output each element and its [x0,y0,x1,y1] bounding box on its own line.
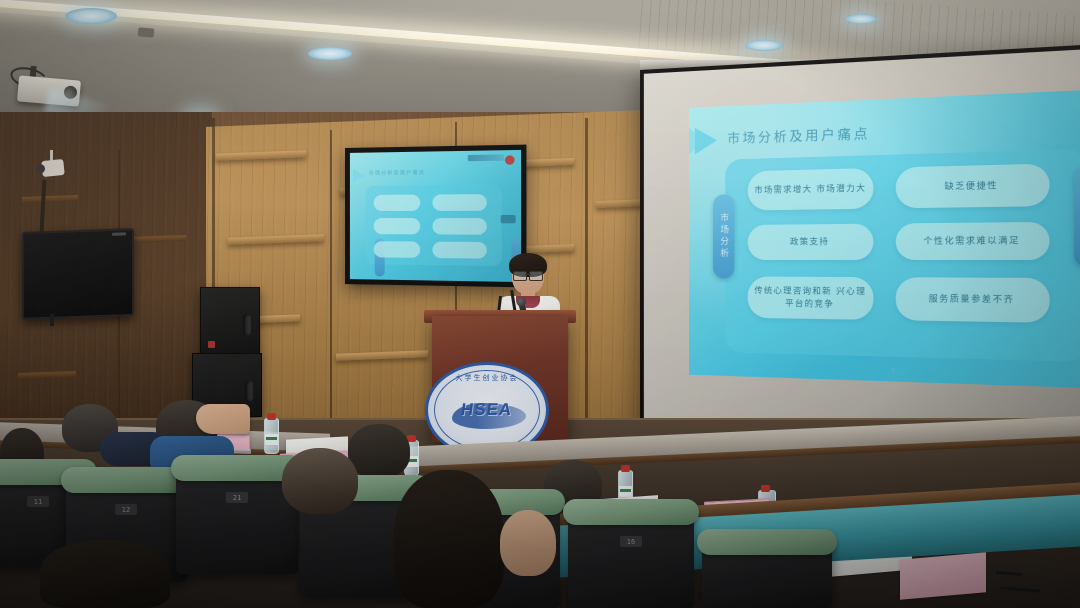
bottle-cap [267,413,276,420]
slide-pill-right-1: 缺乏便捷性 [896,164,1050,209]
audience-head [394,470,504,608]
bottle-cap [761,485,770,492]
auditorium-seat: 16 [568,510,694,608]
speaker-port [243,314,251,336]
bottle-label [265,434,278,445]
audience-face [500,510,556,576]
paper-document-pink [900,552,986,600]
speaker-port [245,380,253,402]
confidence-logo-wordmark [468,154,504,161]
seat-headrest [697,529,837,555]
bottle-cap [621,465,630,472]
slide-pill-right-3: 服务质量参差不齐 [896,277,1050,323]
confidence-corner-badge [501,215,516,223]
audience-head [348,424,410,478]
emblem-acronym: HSEA [460,400,514,420]
confidence-slide-title: 市场分析及用户痛点 [369,169,425,177]
seat-number-plate: 16 [620,536,642,547]
confidence-pill [374,241,420,258]
confidence-logo-mark [505,155,515,165]
ceiling-downlight-icon [745,40,783,51]
ceiling-downlight-icon [65,8,117,24]
audience-head [282,448,358,514]
confidence-page-number: 3 [435,272,437,276]
slide-tab-left-label: 市场分析 [718,213,730,260]
seat-number-plate: 11 [27,496,49,507]
seat-headrest [563,499,699,525]
confidence-pill [374,218,420,234]
confidence-pill [432,194,486,211]
emblem-chinese-name: 大学生创业协会 [444,373,530,383]
seat-number-plate: 12 [115,504,137,515]
slide-pill-left-3: 传统心理咨询和新 兴心理平台的竞争 [748,277,874,320]
confidence-pill [432,218,486,235]
lens-left [513,271,527,281]
presentation-slide: 市场分析及用户痛点 京 廣 GuangDong 市场分析 用户痛点 市场需求增大… [689,88,1080,389]
security-camera-icon [41,159,65,177]
slide-pill-left-2: 政策支持 [748,224,874,260]
slide-page-number: 3 [891,369,895,376]
slide-arrow-icon [695,127,717,154]
camera-lens-icon [36,164,46,174]
auditorium-photo: 市场分析及用户痛点 3 市场分析及用户痛点 [0,0,1080,608]
confidence-pill [432,242,486,259]
auditorium-seat: 21 [176,466,298,574]
slide-pill-right-2: 个性化需求难以满足 [896,222,1050,260]
wall-mounted-display [22,228,134,320]
auditorium-seat [702,540,832,608]
loudspeaker-upper [200,287,260,355]
seat-number-plate: 21 [226,492,248,503]
ceiling-vent [138,27,155,37]
ceiling-downlight-icon [308,47,352,60]
projection-screen: 市场分析及用户痛点 京 廣 GuangDong 市场分析 用户痛点 市场需求增大… [640,42,1080,479]
lens-right [529,271,543,281]
monitor-bracket [50,314,54,326]
ceiling-downlight-icon [845,14,877,24]
bottle-label [619,486,632,497]
slide-arrow-icon [353,169,365,183]
audience-head [40,540,170,608]
wall-panel-seam [330,130,332,430]
wall-panel-seam [585,118,588,418]
speaker-badge [208,341,215,348]
slide-pill-left-1: 市场需求增大 市场潜力大 [748,168,874,210]
audience-raised-hand [196,404,250,434]
monitor-brand-mark [112,232,126,235]
slide-tab-user-painpoints: 用户痛点 [1074,164,1080,266]
eyeglasses-icon [513,271,543,279]
slide-tab-market-analysis: 市场分析 [713,194,734,278]
glasses-bridge [525,274,531,275]
water-bottle [264,418,279,454]
confidence-pill [374,195,420,211]
